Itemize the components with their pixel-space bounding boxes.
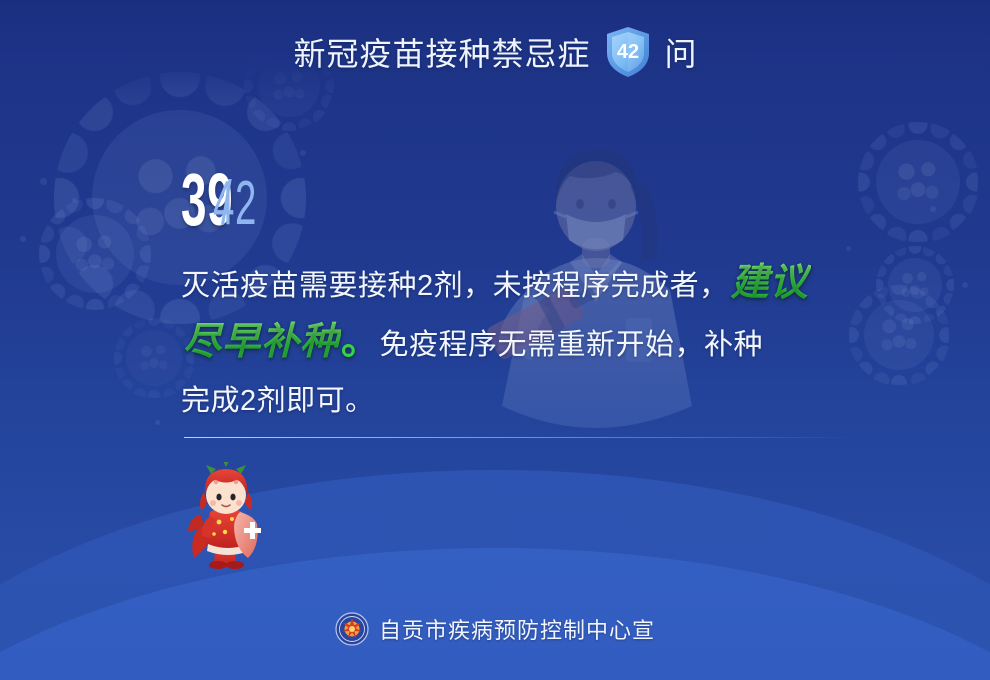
poster-footer: 自贡市疾病预防控制中心宣: [0, 612, 990, 646]
cdc-emblem-logo: [335, 612, 369, 646]
answer-line-3: 完成2剂即可。: [181, 373, 899, 429]
decorative-dot: [930, 206, 936, 212]
answer-line-1-text: 灭活疫苗需要接种2剂，未按程序完成者，: [181, 270, 729, 302]
header-suffix-label: 问: [665, 29, 697, 75]
decorative-dot: [40, 178, 47, 185]
question-counter: 39 / 42: [181, 166, 284, 234]
poster-header: 新冠疫苗接种禁忌症 42: [0, 0, 990, 104]
counter-total-number: 42: [213, 175, 257, 232]
decorative-dot: [20, 236, 26, 242]
virus-shape-icon: [56, 215, 134, 293]
virus-shape-icon: [876, 140, 960, 224]
answer-highlight-jianyi: 建议: [729, 262, 811, 304]
answer-text-block: 灭活疫苗需要接种2剂，未按程序完成者，建议 尽早补种。免疫程序无需重新开始，补种…: [181, 255, 899, 429]
decorative-dot: [846, 246, 851, 251]
content-divider: [184, 437, 856, 438]
dragon-costume-child-mascot: [178, 462, 282, 570]
answer-line-2: 尽早补种。免疫程序无需重新开始，补种: [181, 314, 899, 373]
background-hill-back: [0, 470, 990, 680]
footer-organization-label: 自贡市疾病预防控制中心宣: [379, 613, 655, 645]
decorative-dot: [300, 150, 306, 156]
shield-badge-number: 42: [616, 41, 638, 63]
decorative-dot: [962, 282, 968, 288]
page-title: 新冠疫苗接种禁忌症: [293, 29, 590, 75]
answer-highlight-period: 。: [341, 321, 380, 363]
virus-shape-icon: [126, 330, 182, 386]
shield-icon: 42: [605, 26, 651, 78]
vaccine-infographic-poster: 新冠疫苗接种禁忌症 42: [0, 0, 990, 680]
answer-line-2-text: 免疫程序无需重新开始，补种: [380, 329, 764, 361]
answer-line-1: 灭活疫苗需要接种2剂，未按程序完成者，建议: [181, 255, 899, 314]
decorative-dot: [155, 420, 160, 425]
decorative-dot: [72, 198, 77, 203]
answer-highlight-jinzaobuzhong: 尽早补种: [181, 321, 341, 363]
